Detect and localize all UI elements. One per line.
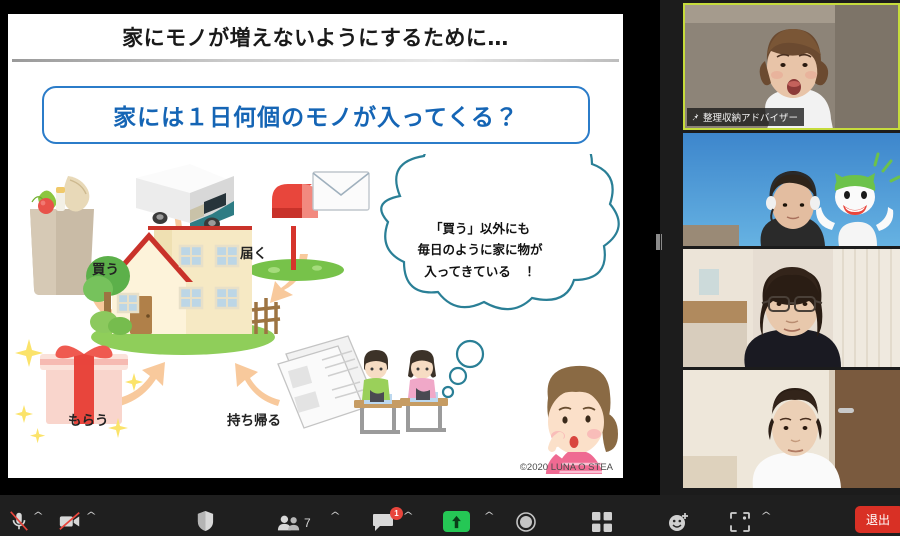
record-icon [516, 512, 536, 532]
stop-video-button[interactable] [58, 510, 82, 532]
participants-icon: 7 [277, 514, 311, 532]
thought-bubble-text: 「買う」以外にも 毎日のように家に物が 入ってきている ！ [370, 218, 590, 282]
participants-button[interactable]: 7 [277, 514, 311, 532]
grocery-bag-icon [30, 176, 94, 295]
share-screen-button[interactable] [443, 511, 470, 532]
school-children-icon [354, 350, 448, 434]
record-button[interactable] [516, 512, 536, 532]
video-off-icon [58, 510, 82, 532]
title-divider [12, 59, 619, 62]
flow-label-buy: 買う [92, 258, 119, 278]
shield-icon [196, 510, 215, 532]
video-feed-1 [683, 133, 900, 246]
thinking-girl-icon [546, 366, 618, 474]
video-tile-3[interactable] [683, 370, 900, 488]
breakout-rooms-button[interactable] [592, 512, 612, 532]
chat-button[interactable]: 1 [372, 513, 394, 532]
presentation-slide[interactable]: 家にモノが増えないようにするために… 家には１日何個のモノが入ってくる？ [8, 14, 623, 478]
reactions-icon [668, 512, 690, 532]
newspaper-icon [278, 336, 374, 428]
microphone-muted-icon [8, 510, 30, 532]
participant-name-tag-0: 整理収納アドバイザー [687, 108, 804, 126]
question-box-text: 家には１日何個のモノが入ってくる？ [113, 98, 519, 132]
apps-caret[interactable]: ^ [761, 512, 772, 522]
video-tile-1[interactable] [683, 133, 900, 246]
apps-icon [730, 512, 750, 532]
participants-caret[interactable]: ^ [330, 512, 341, 522]
pin-icon [691, 113, 700, 122]
video-options-caret[interactable]: ^ [86, 512, 97, 522]
apps-button[interactable] [730, 512, 750, 532]
delivery-truck-icon [136, 164, 234, 233]
flow-label-bring-home: 持ち帰る [227, 409, 281, 429]
video-feed-3 [683, 370, 900, 488]
video-thumbnail-strip: 整理収納アドバイザー [683, 0, 900, 495]
share-caret[interactable]: ^ [484, 512, 495, 522]
flow-diagram: 買う 届く もらう 持ち帰る 「買う」以外にも 毎日のように家に物が 入ってきて… [8, 154, 623, 474]
security-button[interactable] [196, 510, 215, 532]
mute-button[interactable] [8, 510, 30, 532]
copyright-notice: ©2020 LUNA O STEA [520, 462, 613, 473]
meeting-toolbar: ^ ^ [0, 495, 900, 536]
slide-title: 家にモノが増えないようにするために… [8, 22, 623, 52]
video-tile-0[interactable]: 整理収納アドバイザー [683, 3, 900, 130]
share-screen-icon [443, 511, 470, 532]
flow-label-receive: もらう [68, 409, 109, 429]
shared-screen-area[interactable]: 家にモノが増えないようにするために… 家には１日何個のモノが入ってくる？ [0, 0, 660, 495]
video-tile-2[interactable] [683, 249, 900, 367]
envelope-icon [313, 172, 369, 210]
participant-name-0: 整理収納アドバイザー [703, 110, 798, 124]
video-feed-2 [683, 249, 900, 367]
breakout-rooms-icon [592, 512, 612, 532]
panel-resize-handle[interactable] [656, 234, 662, 250]
mic-options-caret[interactable]: ^ [33, 512, 44, 522]
zoom-meeting-window: 家にモノが増えないようにするために… 家には１日何個のモノが入ってくる？ [0, 0, 900, 536]
reactions-button[interactable] [668, 512, 690, 532]
flow-label-deliver: 届く [240, 242, 267, 262]
leave-meeting-button[interactable]: 退出 [855, 506, 900, 533]
chat-icon: 1 [372, 513, 394, 532]
chat-caret[interactable]: ^ [403, 512, 414, 522]
chat-unread-badge: 1 [390, 507, 403, 520]
question-box: 家には１日何個のモノが入ってくる？ [42, 86, 590, 144]
participants-count: 7 [304, 516, 311, 530]
